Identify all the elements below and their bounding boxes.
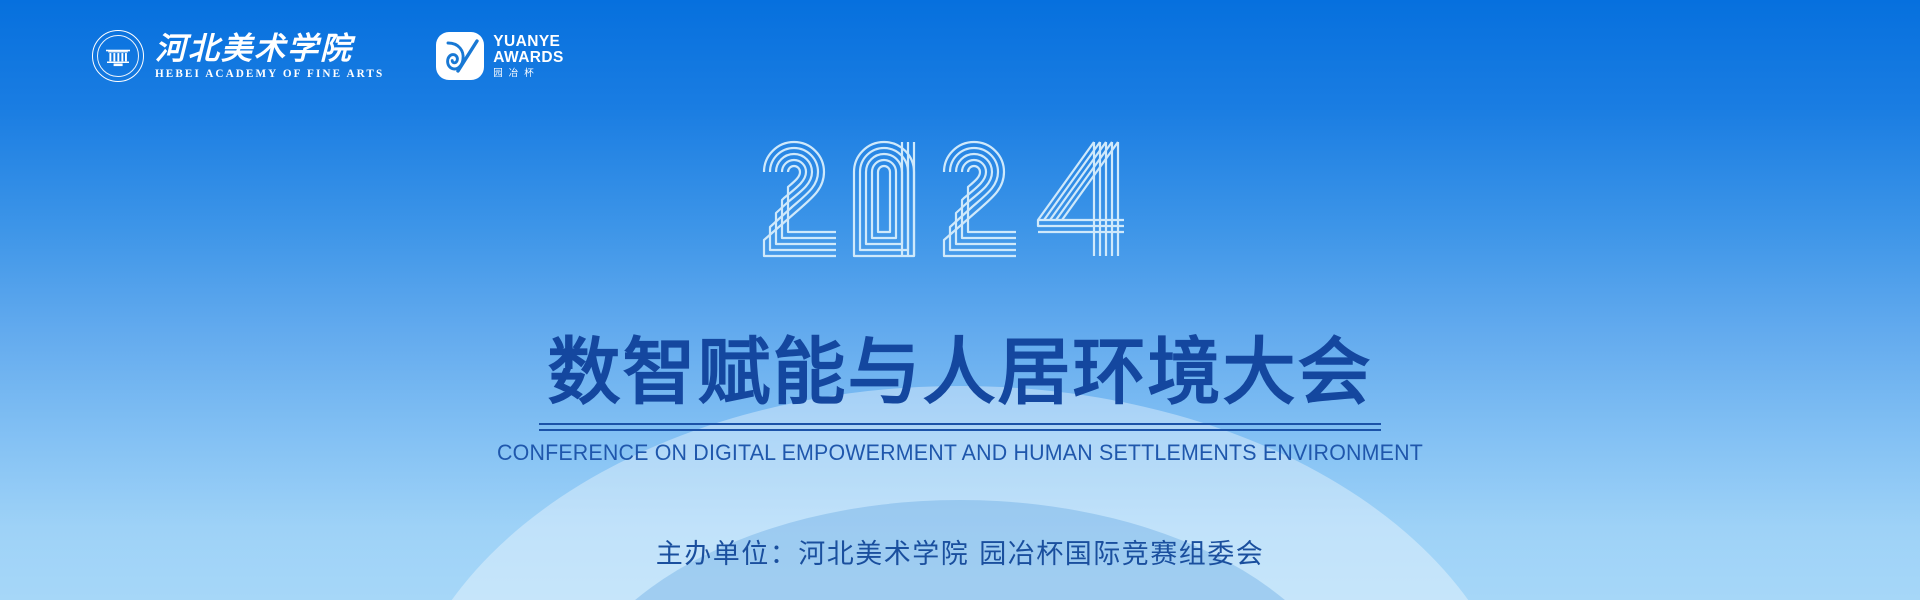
- yuanye-line-2: AWARDS: [493, 50, 563, 66]
- main-title: 数智赋能与人居环境大会: [0, 336, 1920, 409]
- yuanye-line-1: YUANYE: [493, 34, 563, 50]
- year-2024-svg: [760, 136, 1160, 260]
- logo-row: 河北美术学院 HEBEI ACADEMY OF FINE ARTS YUANYE…: [92, 30, 564, 82]
- hebei-academy-wordmark: 河北美术学院 HEBEI ACADEMY OF FINE ARTS: [155, 32, 384, 79]
- hebei-academy-chinese-name: 河北美术学院: [155, 32, 384, 65]
- digit-4: [1038, 142, 1124, 256]
- yuanye-chinese-name: 园冶杯: [493, 69, 563, 79]
- english-subtitle: CONFERENCE ON DIGITAL EMPOWERMENT AND HU…: [43, 440, 1877, 466]
- yuanye-awards-logo: YUANYE AWARDS 园冶杯: [436, 32, 563, 80]
- year-2024-graphic: [0, 136, 1920, 260]
- digit-0: [854, 142, 914, 256]
- yuanye-awards-mark: [436, 32, 484, 80]
- divider-line-top: [539, 423, 1381, 425]
- digit-2-second: [944, 142, 1016, 256]
- title-block: 数智赋能与人居环境大会 CONFERENCE ON DIGITAL EMPOWE…: [0, 336, 1920, 466]
- hebei-academy-logo: 河北美术学院 HEBEI ACADEMY OF FINE ARTS: [92, 30, 384, 82]
- gate-icon: [105, 48, 131, 67]
- yuanye-awards-wordmark: YUANYE AWARDS 园冶杯: [493, 34, 563, 79]
- digit-2-first: [764, 142, 836, 256]
- divider-line-bottom: [539, 429, 1381, 431]
- yuanye-y-icon: [436, 32, 484, 80]
- hebei-academy-emblem: [92, 30, 144, 82]
- title-divider: [539, 423, 1381, 431]
- conference-banner: 河北美术学院 HEBEI ACADEMY OF FINE ARTS YUANYE…: [0, 0, 1920, 600]
- organizer-line: 主办单位：河北美术学院 园冶杯国际竞赛组委会: [0, 532, 1920, 571]
- hebei-academy-english-name: HEBEI ACADEMY OF FINE ARTS: [155, 68, 384, 80]
